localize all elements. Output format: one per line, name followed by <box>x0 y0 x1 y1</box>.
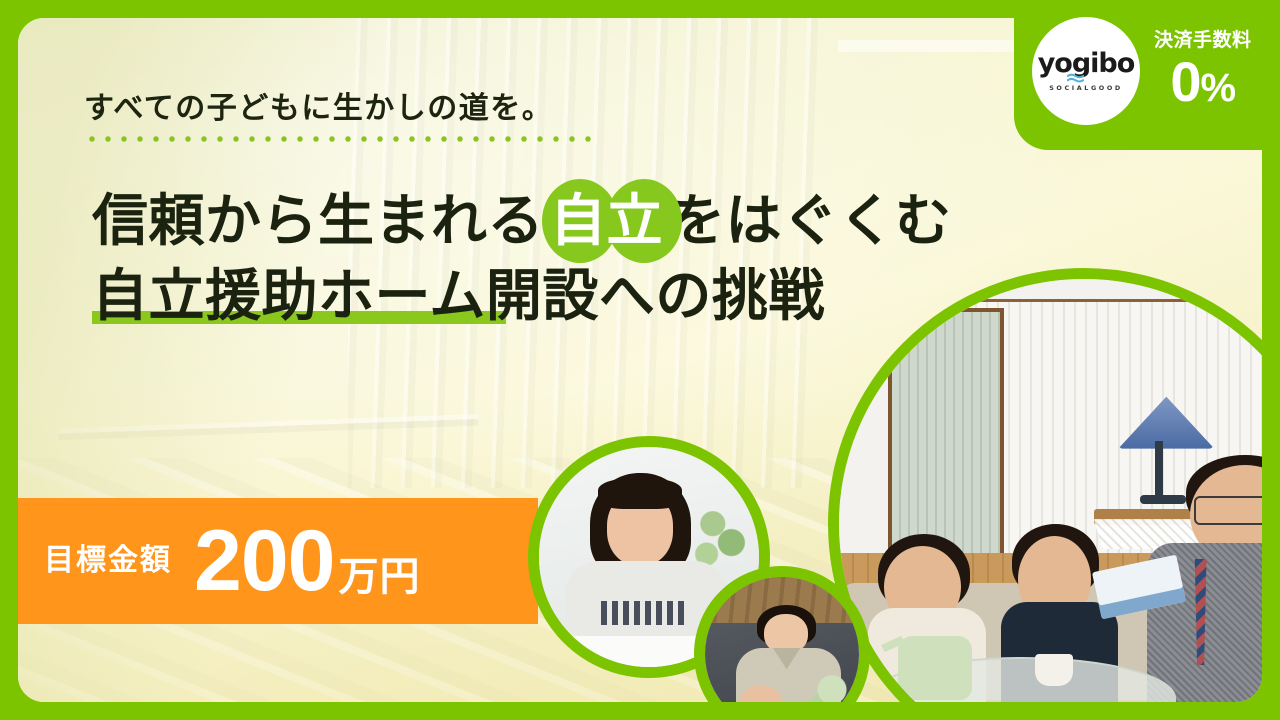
yogibo-logo: yogibo SOCIALGOOD <box>1032 17 1140 125</box>
fee-percent-sign: % <box>1201 66 1236 110</box>
group-photo-scene <box>839 279 1262 702</box>
pill-char-2: 立 <box>607 192 664 251</box>
photo-young-man <box>694 566 870 702</box>
girl-bangs <box>598 478 682 509</box>
yogibo-wave-icon <box>1067 73 1084 84</box>
fee-value: 0% <box>1154 54 1252 110</box>
dotted-divider <box>84 136 596 142</box>
tagline-text: すべての子どもに生かしの道を。 <box>84 92 596 127</box>
fee-block: 決済手数料 0% <box>1150 31 1252 110</box>
headline-line1-after: をはぐくむ <box>669 192 952 251</box>
target-amount-number: 200 <box>194 518 335 604</box>
girl-sweatshirt-print <box>601 601 689 625</box>
scene-teacup <box>1035 654 1073 686</box>
tagline-block: すべての子どもに生かしの道を。 <box>84 92 596 142</box>
scene-window <box>888 308 1004 561</box>
yogibo-logo-text: yogibo <box>1038 48 1135 79</box>
target-amount-banner: 目標金額 200 万円 <box>18 498 538 624</box>
yogibo-logo-tagline: SOCIALGOOD <box>1049 84 1123 92</box>
headline-block: 信頼から生まれる 自 立 をはぐくむ 自立援助ホーム開設への挑戦 <box>92 192 952 326</box>
target-amount-label: 目標金額 <box>44 546 172 576</box>
headline-line2-text: 自立援助ホーム開設への挑戦 <box>92 267 825 326</box>
highlight-pill-jiritsu: 自 立 <box>548 192 665 251</box>
scene-kettle <box>898 636 972 700</box>
man-photo-scene <box>705 577 859 702</box>
photo-group-conversation <box>828 268 1262 702</box>
yogibo-logo-wordmark: yogibo <box>1038 50 1135 77</box>
headline-line1-before: 信頼から生まれる <box>92 192 544 251</box>
headline-line-2: 自立援助ホーム開設への挑戦 <box>92 267 952 326</box>
target-amount-unit: 万円 <box>339 557 421 597</box>
headline-line-1: 信頼から生まれる 自 立 をはぐくむ <box>92 192 952 251</box>
fee-number: 0 <box>1170 50 1200 113</box>
pill-char-1: 自 <box>550 192 607 251</box>
fee-label: 決済手数料 <box>1154 31 1252 50</box>
glasses-icon <box>1194 496 1262 525</box>
campaign-poster: すべての子どもに生かしの道を。 信頼から生まれる 自 立 をはぐくむ 自立援助ホ… <box>0 0 1280 720</box>
target-amount-value: 200 万円 <box>194 518 421 604</box>
yogibo-fee-badge: yogibo SOCIALGOOD 決済手数料 0% <box>1014 0 1280 150</box>
man-scene-plant <box>808 668 856 702</box>
